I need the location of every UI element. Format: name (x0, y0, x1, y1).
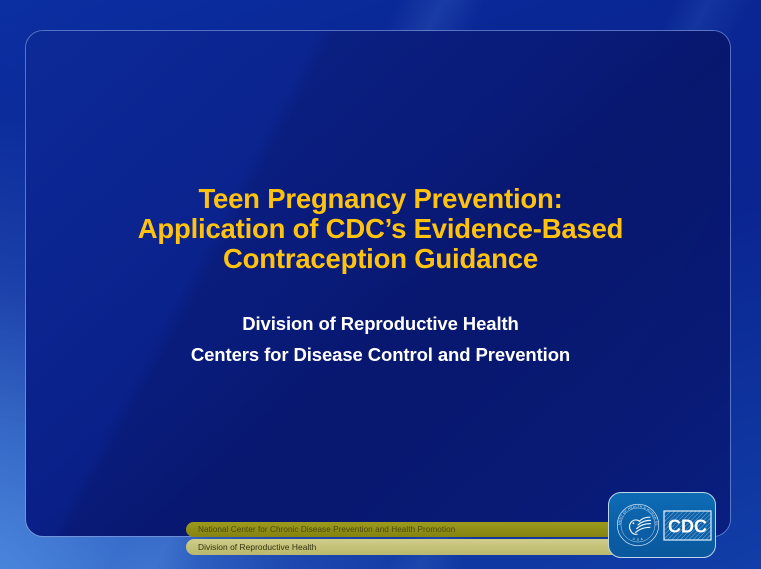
title-line-3: Contraception Guidance (0, 244, 761, 274)
subtitle-line-1: Division of Reproductive Health (0, 308, 761, 339)
title-line-1: Teen Pregnancy Prevention: (0, 184, 761, 214)
subtitle-line-2: Centers for Disease Control and Preventi… (0, 339, 761, 370)
svg-text:U S A: U S A (632, 537, 644, 542)
slide-canvas: Teen Pregnancy Prevention: Application o… (0, 0, 761, 569)
page-subtitle: Division of Reproductive Health Centers … (0, 308, 761, 370)
footer-bar-division: Division of Reproductive Health (186, 539, 614, 555)
cdc-wordmark: CDC (663, 510, 712, 541)
cdc-wordmark-text: CDC (668, 516, 707, 536)
footer-banner: National Center for Chronic Disease Prev… (186, 522, 614, 555)
title-block: Teen Pregnancy Prevention: Application o… (0, 184, 761, 370)
title-line-2: Application of CDC’s Evidence-Based (0, 214, 761, 244)
svg-text:DEPARTMENT OF HEALTH & HUMAN S: DEPARTMENT OF HEALTH & HUMAN SERVICES (615, 502, 659, 526)
page-title: Teen Pregnancy Prevention: Application o… (0, 184, 761, 274)
footer-bar-organization: National Center for Chronic Disease Prev… (186, 522, 614, 537)
hhs-seal-icon: DEPARTMENT OF HEALTH & HUMAN SERVICES U … (615, 502, 661, 548)
cdc-logo: DEPARTMENT OF HEALTH & HUMAN SERVICES U … (608, 492, 716, 558)
